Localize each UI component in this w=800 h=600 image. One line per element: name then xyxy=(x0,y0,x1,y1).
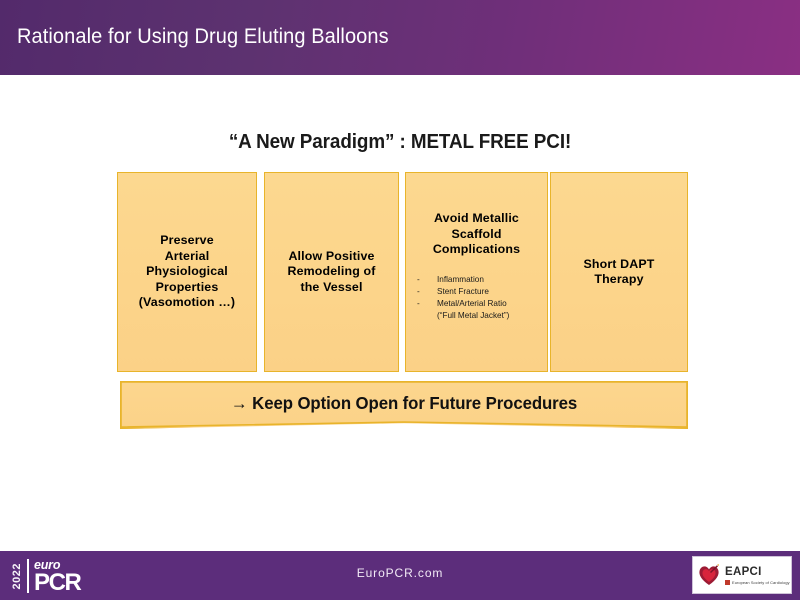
list-item: - Metal/Arterial Ratio xyxy=(417,298,541,310)
pillar-title-line: Arterial xyxy=(165,249,210,265)
pillar-title-line: the Vessel xyxy=(300,280,362,296)
pillar-title-line: Therapy xyxy=(594,272,643,288)
list-item: - Stent Fracture xyxy=(417,286,541,298)
pillar-card-preserve-arterial: Preserve Arterial Physiological Properti… xyxy=(117,172,257,372)
list-item-label: Inflammation xyxy=(437,274,541,286)
pillar-title-line: Complications xyxy=(412,242,541,258)
pillar-title-line: Allow Positive xyxy=(288,249,374,265)
dash-bullet-icon: - xyxy=(417,286,437,298)
pillar-card-positive-remodeling: Allow Positive Remodeling of the Vessel xyxy=(264,172,399,372)
slide-header: Rationale for Using Drug Eluting Balloon… xyxy=(0,0,800,75)
pillar-card-short-dapt: Short DAPT Therapy xyxy=(550,172,688,372)
eapci-logo: EAPCI European Society of Cardiology xyxy=(692,556,792,594)
pillar-title-line: Avoid Metallic xyxy=(412,211,541,227)
pillar-title-line: Preserve xyxy=(160,233,214,249)
list-item-label: Metal/Arterial Ratio xyxy=(437,298,541,310)
pillar-title-line: Remodeling of xyxy=(288,264,376,280)
page-title: Rationale for Using Drug Eluting Balloon… xyxy=(17,24,389,49)
dash-bullet-icon: - xyxy=(417,274,437,286)
eapci-name-label: EAPCI xyxy=(725,566,790,578)
slide-canvas: Rationale for Using Drug Eluting Balloon… xyxy=(0,0,800,600)
dash-bullet-icon: - xyxy=(417,298,437,310)
eapci-subtitle-row: European Society of Cardiology xyxy=(725,580,790,585)
pillar-title-line: Physiological xyxy=(146,264,228,280)
conclusion-banner-label: → Keep Option Open for Future Procedures xyxy=(131,381,676,425)
list-item: - Inflammation xyxy=(417,274,541,286)
pillar-title-line: Short DAPT xyxy=(583,257,654,273)
paradigm-headline: “A New Paradigm” : METAL FREE PCI! xyxy=(32,130,768,154)
heart-icon xyxy=(697,563,721,587)
complication-bullet-list: - Inflammation - Stent Fracture - Metal/… xyxy=(412,274,541,323)
list-item-continuation: (“Full Metal Jacket”) xyxy=(437,310,541,322)
pillar-subtitle-line: (Vasomotion …) xyxy=(139,295,235,311)
pillar-title-line: Properties xyxy=(156,280,219,296)
footer-url-label: EuroPCR.com xyxy=(0,566,800,580)
list-item-label: Stent Fracture xyxy=(437,286,541,298)
esc-mark-icon xyxy=(725,580,730,585)
eapci-subtitle-label: European Society of Cardiology xyxy=(732,580,790,585)
pillar-card-avoid-metallic-scaffold: Avoid Metallic Scaffold Complications - … xyxy=(405,172,548,372)
pillar-title-line: Scaffold xyxy=(412,227,541,243)
eapci-text-block: EAPCI European Society of Cardiology xyxy=(725,566,790,585)
